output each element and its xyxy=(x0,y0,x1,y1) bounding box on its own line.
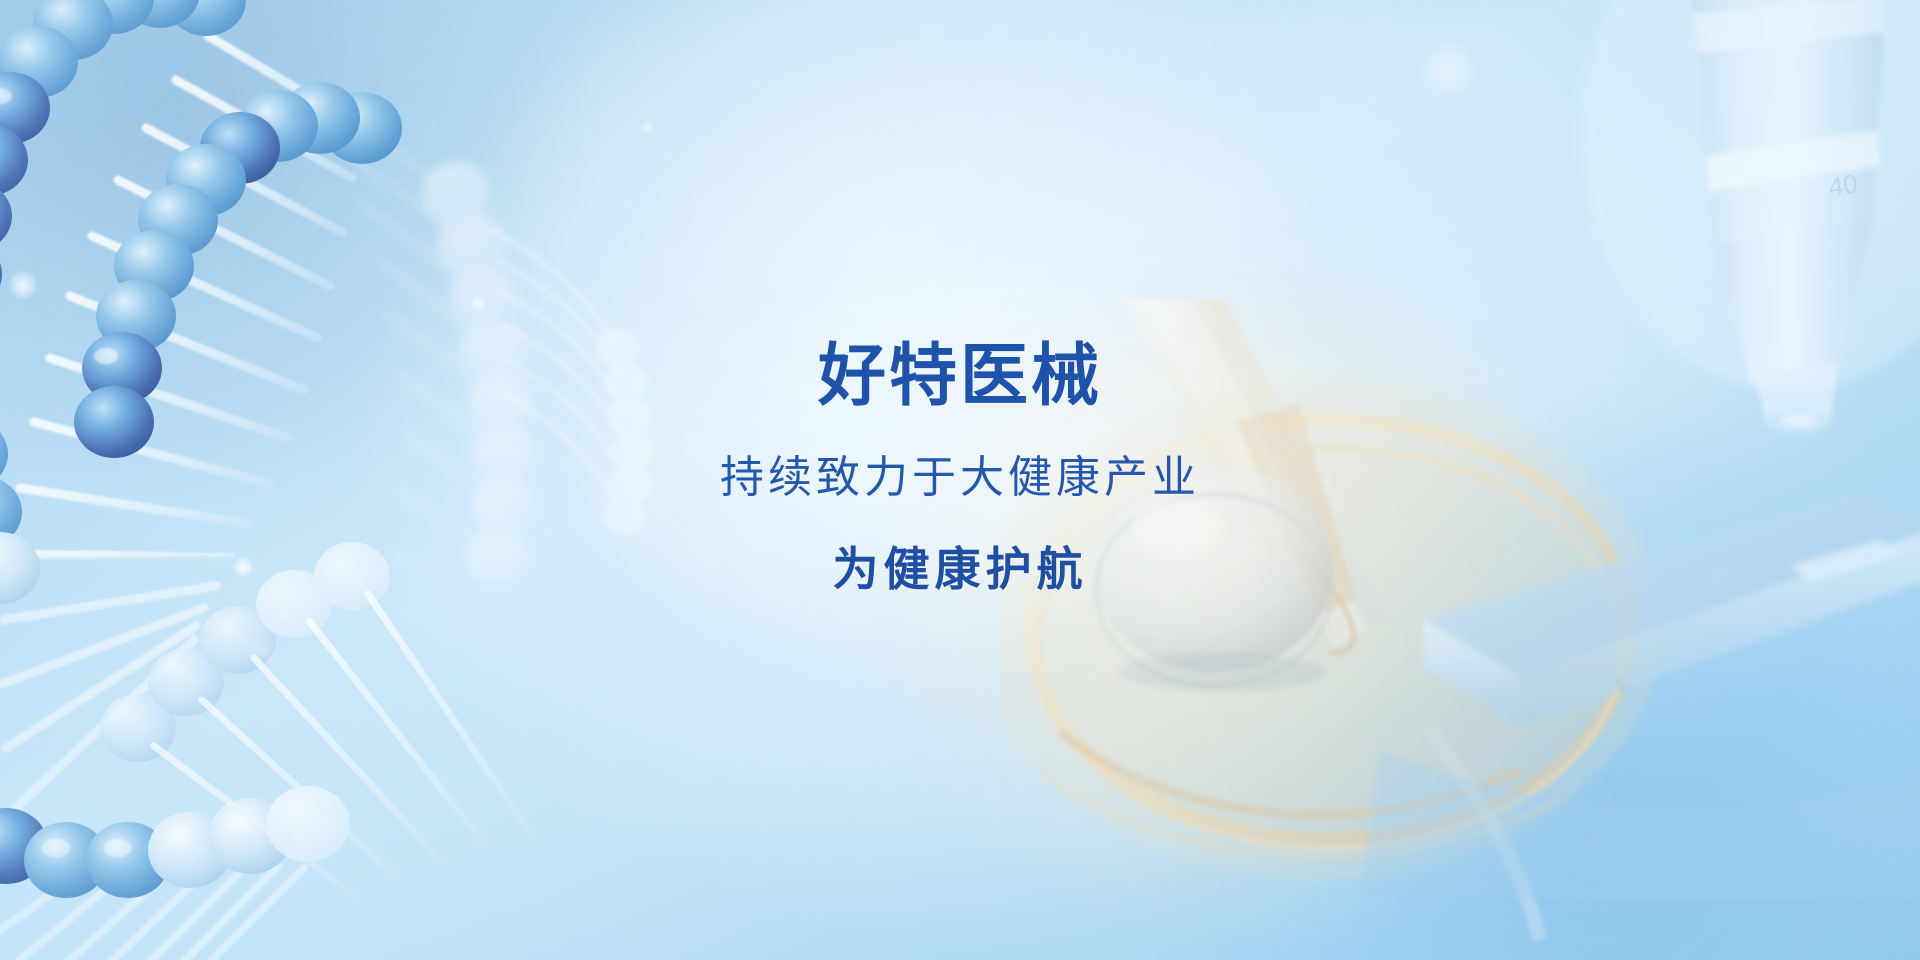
bokeh-dot xyxy=(8,270,38,300)
page-title: 好特医械 xyxy=(0,342,1920,410)
bokeh-dot xyxy=(470,296,486,312)
microscope-magnification-label: 40 xyxy=(1827,168,1860,202)
bokeh-dot xyxy=(640,120,654,134)
bokeh-dot xyxy=(1420,40,1478,98)
hero-text-block: 好特医械 持续致力于大健康产业 为健康护航 xyxy=(0,342,1920,592)
hero-slogan: 为健康护航 xyxy=(0,546,1920,592)
hero-banner: 40 xyxy=(0,0,1920,960)
hero-subtitle: 持续致力于大健康产业 xyxy=(0,456,1920,500)
bokeh-dot xyxy=(250,638,276,664)
